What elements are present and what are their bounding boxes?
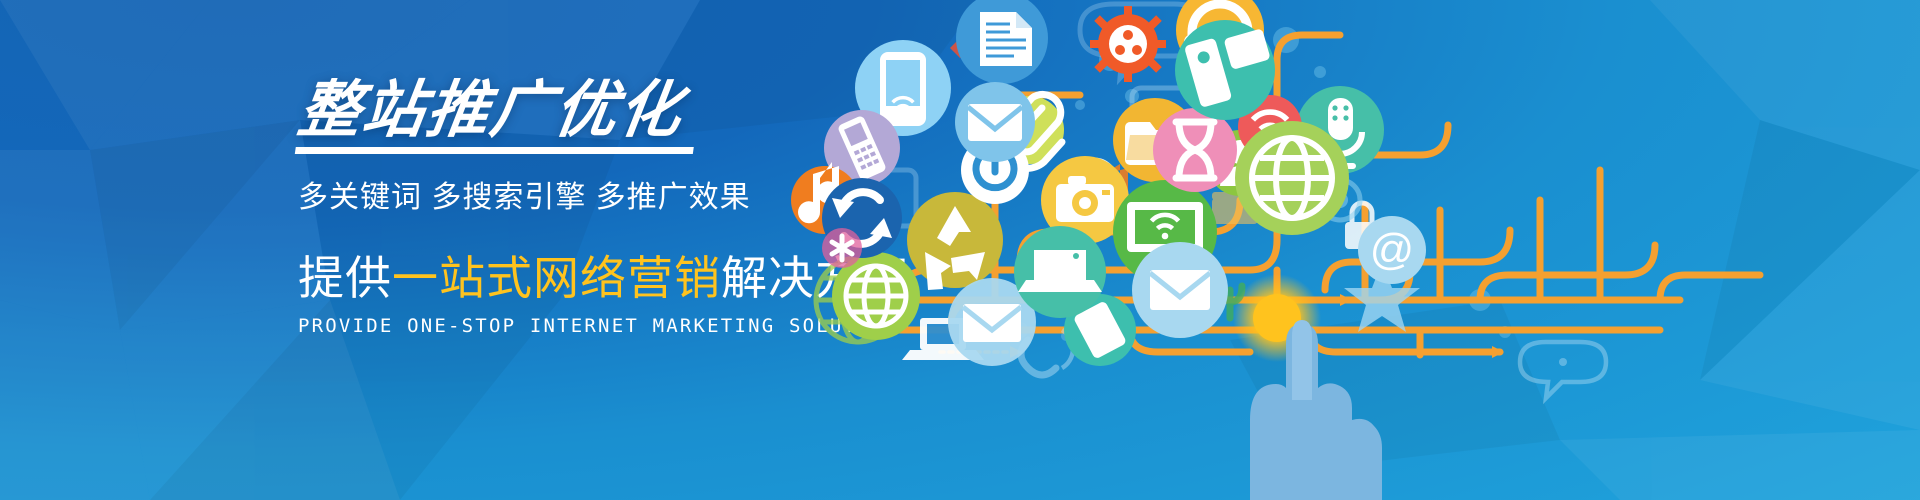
headline-text: 整站推广优化 bbox=[294, 76, 688, 145]
laptop-screen-icon bbox=[1014, 226, 1106, 318]
envelope-large-icon bbox=[1132, 242, 1228, 338]
headline-underline bbox=[295, 147, 694, 154]
value-prop-prefix: 提供 bbox=[298, 252, 392, 304]
promo-banner: 整站推广优化 多关键词 多搜索引擎 多推广效果 提供一站式网络营销解决方案 PR… bbox=[0, 0, 1920, 500]
icon-tree-overlay bbox=[780, 0, 1920, 500]
value-prop-highlight: 一站式网络营销 bbox=[392, 252, 721, 304]
